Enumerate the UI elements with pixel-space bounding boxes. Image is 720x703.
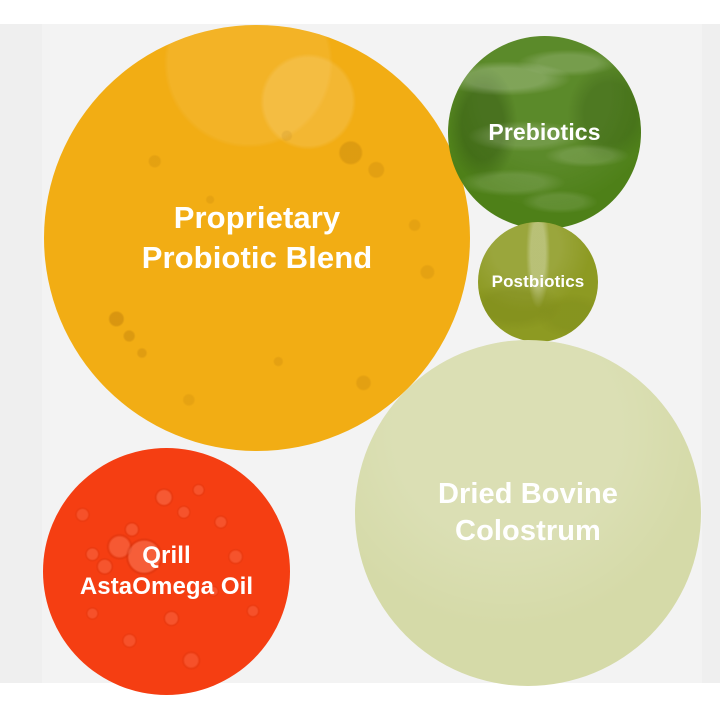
bubble-prebiotics[interactable]: Prebiotics [448, 36, 641, 229]
bubble-label-proprietary-probiotic-blend: Proprietary Probiotic Blend [136, 198, 379, 277]
bubble-proprietary-probiotic-blend[interactable]: Proprietary Probiotic Blend [44, 25, 470, 451]
bubble-postbiotics[interactable]: Postbiotics [478, 222, 598, 342]
bubble-chart-canvas: Proprietary Probiotic Blend Prebiotics P… [0, 0, 720, 703]
background-right-gutter [702, 24, 720, 683]
bubble-dried-bovine-colostrum[interactable]: Dried Bovine Colostrum [355, 340, 701, 686]
bubble-label-postbiotics: Postbiotics [486, 271, 591, 293]
bubble-label-qrill-astaomega-oil: Qrill AstaOmega Oil [74, 541, 259, 602]
background-left-gutter [0, 24, 42, 683]
bubble-qrill-astaomega-oil[interactable]: Qrill AstaOmega Oil [43, 448, 290, 695]
bubble-label-prebiotics: Prebiotics [482, 118, 606, 147]
bubble-label-dried-bovine-colostrum: Dried Bovine Colostrum [432, 476, 624, 550]
